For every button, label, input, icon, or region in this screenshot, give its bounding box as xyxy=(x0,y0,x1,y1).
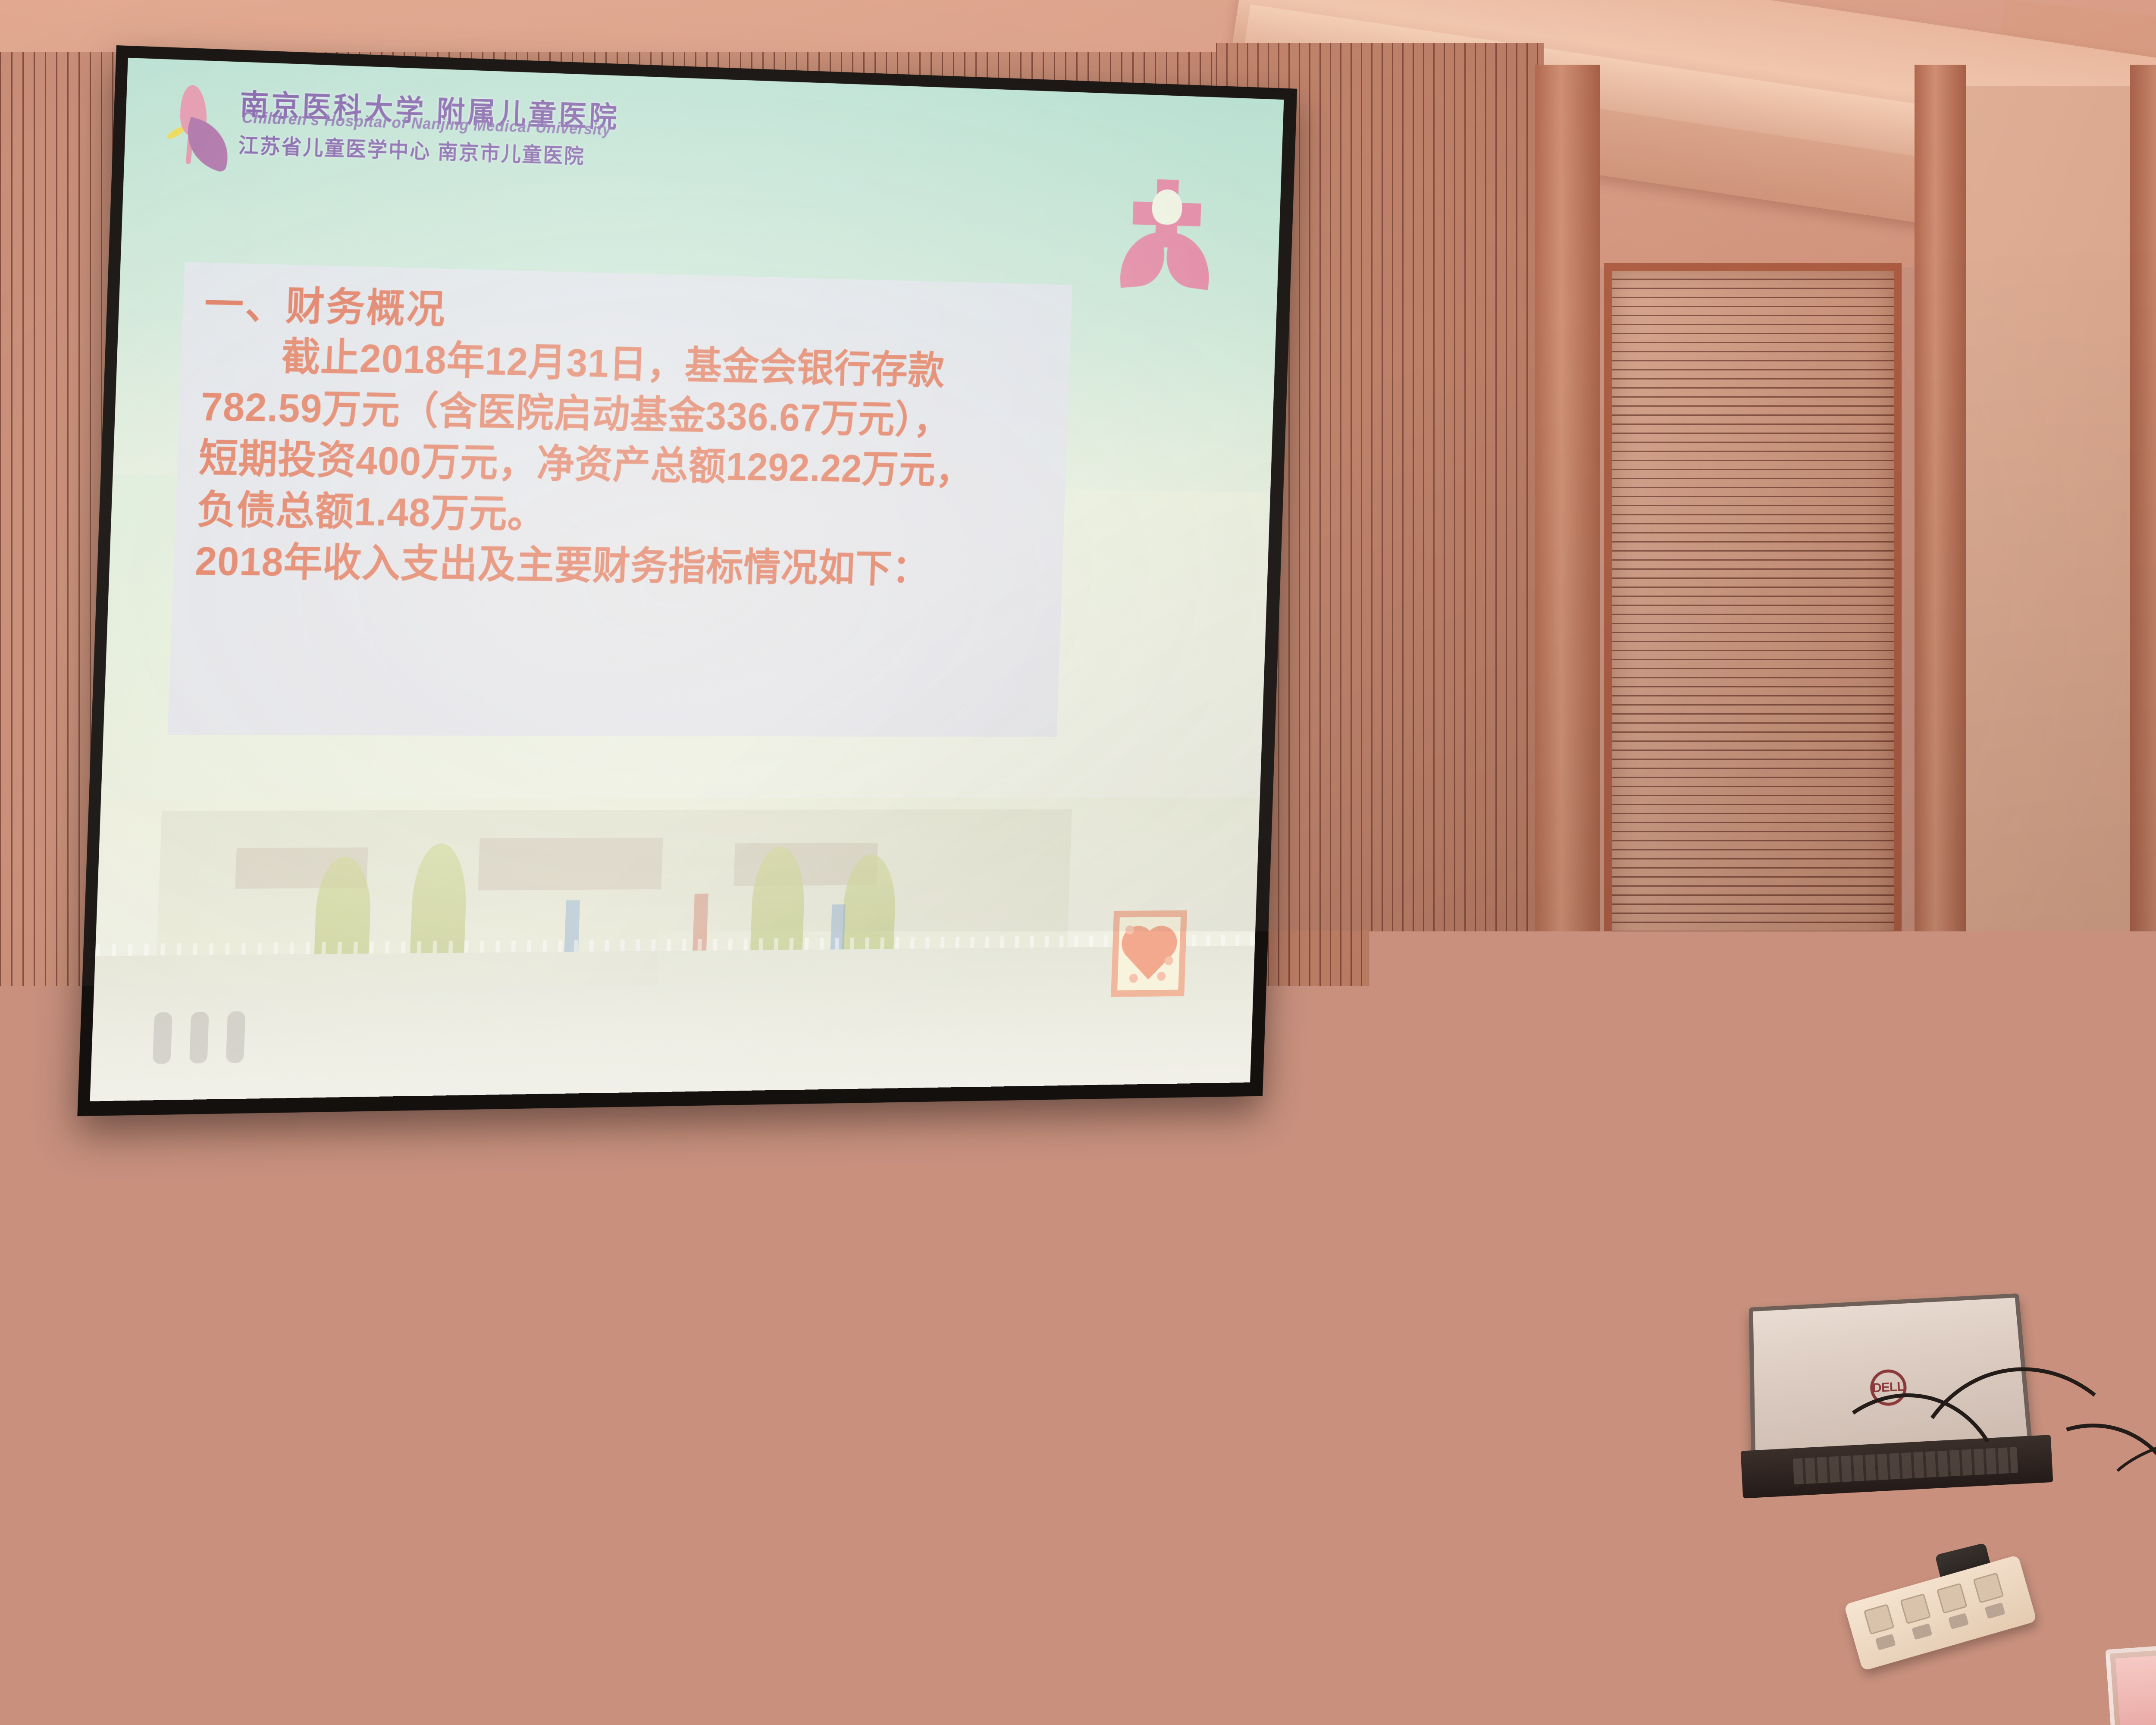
foundation-seal-logo xyxy=(1100,159,1232,297)
slatted-partition-panel xyxy=(1604,263,1902,1039)
heart-shape xyxy=(1126,931,1172,979)
sprout-logo-icon xyxy=(1828,1057,1881,1127)
hospital-entrance-photo xyxy=(90,797,1260,1101)
attendee-hair xyxy=(1000,1164,1380,1483)
slide-header-text: 南京医科大学 附属儿童医院 Children's Hospital of Nan… xyxy=(238,87,620,170)
photo-person xyxy=(153,1012,172,1064)
heart-stamp-icon xyxy=(1111,910,1187,997)
office-chair-left[interactable] xyxy=(488,1417,763,1725)
slide-text-card: 一、财务概况 截止2018年12月31日，基金会银行存款 782.59万元（含医… xyxy=(168,262,1072,737)
slide-line-4: 负债总额1.48万元。 xyxy=(196,485,1047,546)
slide-line-5: 2018年收入支出及主要财务指标情况如下： xyxy=(194,537,1045,595)
photo-road xyxy=(90,946,1255,1101)
conference-room-scene: 南京医科大学 附属儿童医院 Children's Hospital of Nan… xyxy=(0,0,2156,1725)
projection-screen: 南京医科大学 附属儿童医院 Children's Hospital of Nan… xyxy=(77,45,1297,1116)
photo-person xyxy=(226,1011,246,1063)
attendee-foreground xyxy=(949,1164,1380,1725)
tulip-logo-icon xyxy=(158,84,229,168)
screen-control-button[interactable] xyxy=(116,1182,135,1203)
child-head-icon xyxy=(1151,189,1182,225)
caring-hands-icon xyxy=(1118,233,1213,289)
photo-person xyxy=(189,1012,209,1063)
podium-brand-abbr: NCH xyxy=(1881,1095,1937,1123)
projected-slide: 南京医科大学 附属儿童医院 Children's Hospital of Nan… xyxy=(90,58,1284,1101)
